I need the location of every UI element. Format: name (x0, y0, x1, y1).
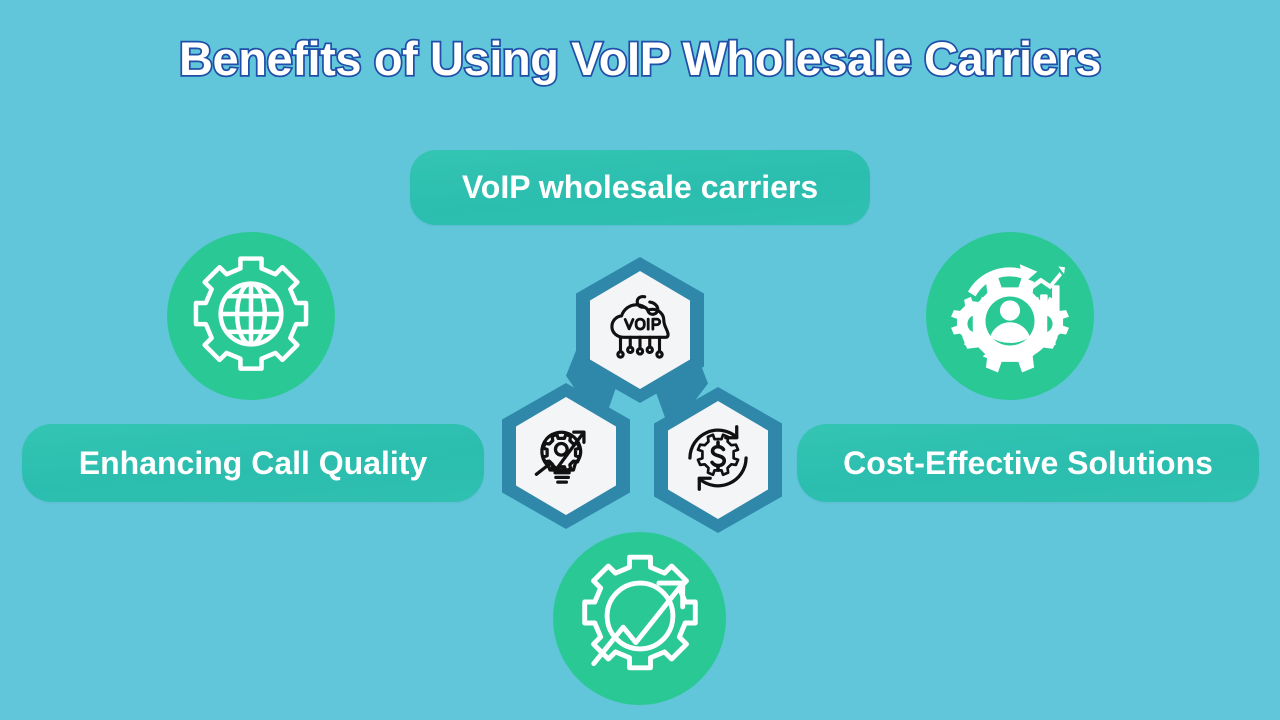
pill-left-label: Enhancing Call Quality (79, 445, 428, 482)
gear-growth-chart-icon (570, 546, 710, 691)
voip-cloud-icon (601, 289, 679, 372)
gear-dollar-refresh-icon (679, 419, 757, 502)
gears-people-analytics-icon (940, 244, 1080, 389)
pill-cost-effective-solutions[interactable]: Cost-Effective Solutions (797, 424, 1259, 502)
pill-enhancing-call-quality[interactable]: Enhancing Call Quality (22, 424, 484, 502)
pill-voip-wholesale-carriers[interactable]: VoIP wholesale carriers (410, 150, 870, 225)
pill-right-label: Cost-Effective Solutions (843, 445, 1213, 482)
pill-top-label: VoIP wholesale carriers (462, 169, 818, 206)
page-title: Benefits of Using VoIP Wholesale Carrier… (0, 31, 1280, 86)
hexagon-cluster (480, 243, 800, 543)
infographic-canvas: Benefits of Using VoIP Wholesale Carrier… (0, 0, 1280, 720)
circle-badge-left (167, 232, 335, 400)
circle-badge-bottom (553, 532, 726, 705)
circle-badge-right (926, 232, 1094, 400)
globe-gear-icon (185, 248, 317, 385)
lightbulb-gear-growth-icon (527, 415, 605, 498)
